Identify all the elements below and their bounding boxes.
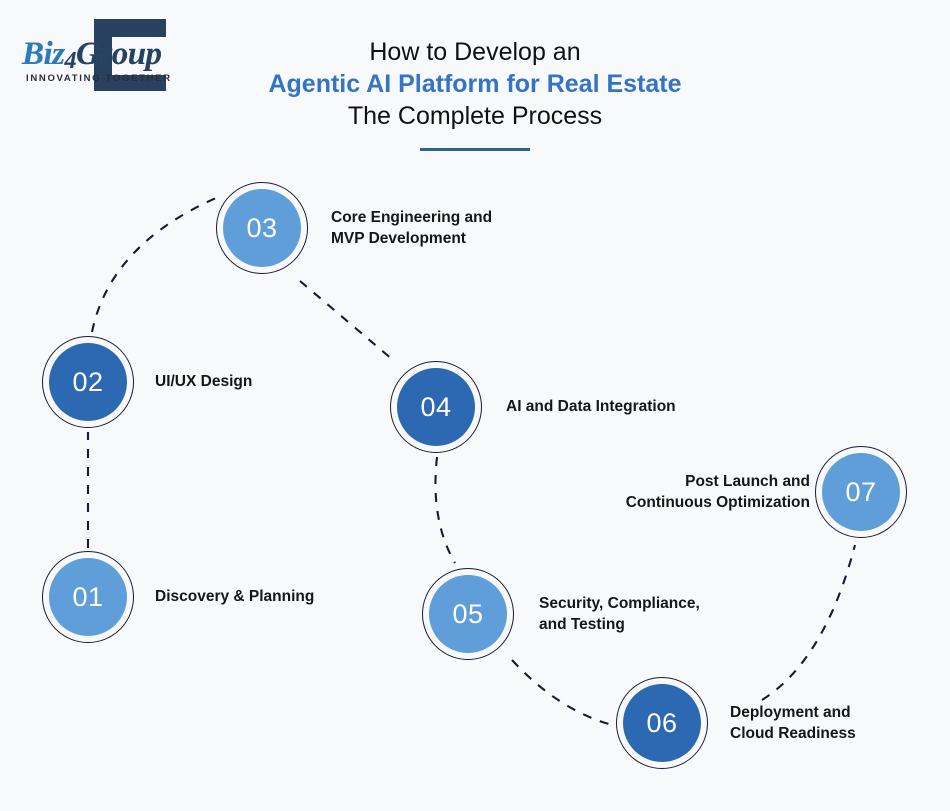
step-number-05: 05 bbox=[429, 575, 507, 653]
connector-04-05 bbox=[435, 457, 455, 563]
step-circle-04[interactable]: 04 bbox=[390, 361, 482, 453]
step-label-02: UI/UX Design bbox=[155, 371, 395, 392]
connector-05-06 bbox=[512, 660, 616, 726]
step-circle-07[interactable]: 07 bbox=[815, 446, 907, 538]
step-label-07: Post Launch and Continuous Optimization bbox=[570, 471, 810, 513]
step-number-06: 06 bbox=[623, 684, 701, 762]
connector-06-07 bbox=[762, 545, 855, 700]
step-label-03: Core Engineering and MVP Development bbox=[331, 207, 561, 249]
step-label-01: Discovery & Planning bbox=[155, 586, 415, 607]
connector-02-03 bbox=[92, 198, 216, 332]
step-number-07: 07 bbox=[822, 453, 900, 531]
step-number-04: 04 bbox=[397, 368, 475, 446]
step-number-01: 01 bbox=[49, 558, 127, 636]
step-circle-01[interactable]: 01 bbox=[42, 551, 134, 643]
step-circle-05[interactable]: 05 bbox=[422, 568, 514, 660]
step-circle-03[interactable]: 03 bbox=[216, 182, 308, 274]
step-label-04: AI and Data Integration bbox=[506, 396, 756, 417]
step-number-03: 03 bbox=[223, 189, 301, 267]
connector-03-04 bbox=[300, 281, 393, 360]
step-circle-02[interactable]: 02 bbox=[42, 336, 134, 428]
infographic-canvas: Biz4Group INNOVATING TOGETHER How to Dev… bbox=[0, 0, 950, 811]
step-circle-06[interactable]: 06 bbox=[616, 677, 708, 769]
step-number-02: 02 bbox=[49, 343, 127, 421]
step-label-06: Deployment and Cloud Readiness bbox=[730, 702, 940, 744]
step-label-05: Security, Compliance, and Testing bbox=[539, 593, 769, 635]
